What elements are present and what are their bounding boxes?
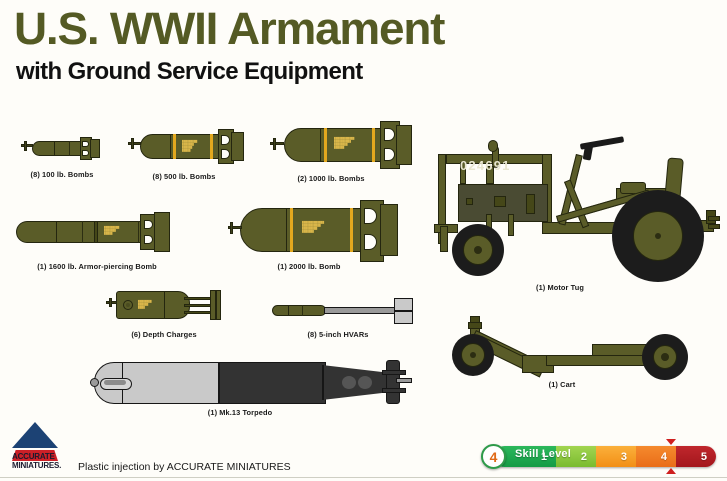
footer-divider <box>0 477 727 478</box>
caption-motor-tug: (1) Motor Tug <box>510 283 610 292</box>
skill-marker-top-icon <box>666 439 676 445</box>
caption-hvar: (8) 5-inch HVARs <box>286 330 390 339</box>
skill-level-track[interactable]: 1 2 3 4 5 <box>494 446 716 467</box>
skill-segment-5[interactable]: 5 <box>676 446 716 467</box>
caption-cart: (1) Cart <box>522 380 602 389</box>
caption-depth-charges: (6) Depth Charges <box>110 330 218 339</box>
illustration-bomb-1600-ap: █████████ ███████ █████ <box>14 210 194 252</box>
logo-triangle-icon <box>12 422 58 448</box>
tug-serial-number: 024691 <box>460 158 511 173</box>
skill-level-badge: 4 <box>481 444 506 469</box>
skill-segment-1-value: 1 <box>541 451 547 463</box>
skill-segment-3[interactable]: 3 <box>596 446 636 467</box>
page-subtitle: with Ground Service Equipment <box>16 58 363 86</box>
illustration-bomb-1000: ████████████ ██████████ ████████ ██████ <box>268 120 418 172</box>
illustration-hvar <box>270 298 415 324</box>
skill-segment-3-value: 3 <box>621 451 627 463</box>
skill-segment-2-value: 2 <box>581 451 587 463</box>
illustration-bomb-100 <box>16 134 108 162</box>
illustration-torpedo <box>90 358 410 406</box>
illustration-cart <box>446 312 706 374</box>
skill-segment-2[interactable]: 2 <box>556 446 596 467</box>
caption-bomb-2000: (1) 2000 lb. Bomb <box>244 262 374 271</box>
illustration-motor-tug: 024691 <box>430 126 720 276</box>
caption-torpedo: (1) Mk.13 Torpedo <box>180 408 300 417</box>
skill-segment-4-value: 4 <box>661 451 667 463</box>
caption-bomb-100: (8) 100 lb. Bombs <box>6 170 118 179</box>
skill-marker-bottom-icon <box>666 468 676 474</box>
caption-bomb-1600-ap: (1) 1600 lb. Armor-piercing Bomb <box>22 262 172 271</box>
footer-tagline: Plastic injection by ACCURATE MINIATURES <box>78 461 291 473</box>
illustration-depth-charges: ████████ ██████ ████ <box>104 288 226 322</box>
brand-name-line2: MINIATURES. <box>12 461 61 470</box>
skill-segment-4[interactable]: 4 <box>636 446 676 467</box>
skill-level-indicator[interactable]: 1 2 3 4 5 Skill Level 4 <box>481 444 717 470</box>
brand-name-line1: ACCURATE <box>12 452 55 461</box>
skill-segment-5-value: 5 <box>701 451 707 463</box>
poster-canvas: U.S. WWII Armament with Ground Service E… <box>0 0 727 481</box>
illustration-bomb-500: █████████ ███████ ██████ █████ <box>126 126 250 168</box>
caption-bomb-500: (8) 500 lb. Bombs <box>128 172 240 181</box>
caption-bomb-1000: (2) 1000 lb. Bombs <box>272 174 390 183</box>
illustration-bomb-2000: █████████████ ███████████ █████████ ████… <box>228 200 413 268</box>
page-title: U.S. WWII Armament <box>14 4 444 54</box>
